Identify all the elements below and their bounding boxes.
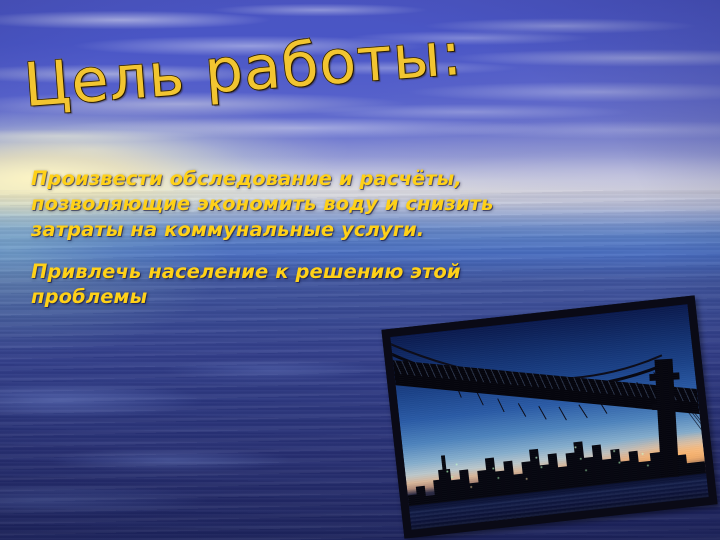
body-paragraph-2: Привлечь население к решению этой пробле… xyxy=(31,259,576,310)
photo-film-grain xyxy=(390,304,708,530)
presentation-slide: Цель работы: Произвести обследование и р… xyxy=(0,0,720,540)
bridge-photo xyxy=(381,295,717,538)
slide-body: Произвести обследование и расчёты, позво… xyxy=(31,166,576,310)
body-paragraph-1: Произвести обследование и расчёты, позво… xyxy=(31,166,576,242)
